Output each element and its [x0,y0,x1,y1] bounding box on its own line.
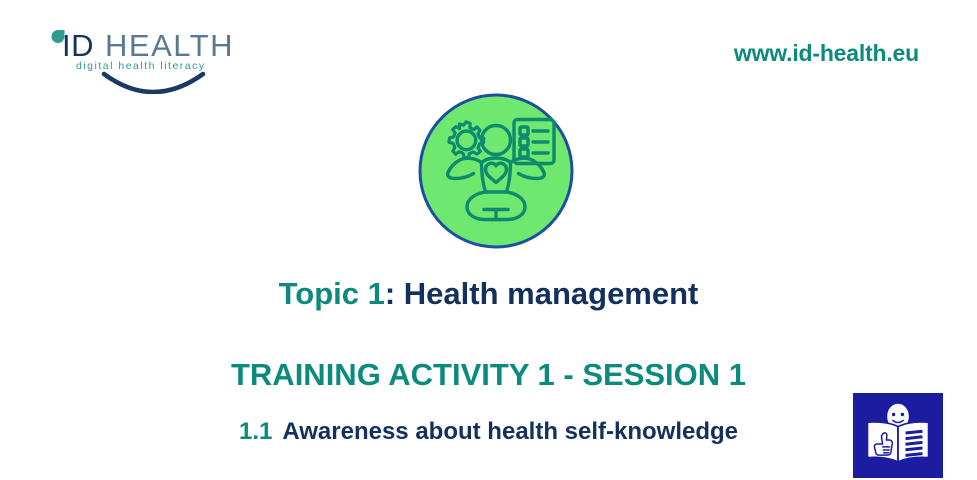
smile-curve-icon [104,74,203,92]
topic-title: Topic 1: Health management [0,276,977,312]
brand-tagline: digital health literacy [76,60,206,72]
topic-name: Health management [404,276,699,311]
brand-logo: ID HEALTH digital health literacy [48,24,278,94]
health-management-icon [417,92,575,250]
website-url[interactable]: www.id-health.eu [734,40,919,67]
subtopic-name: Awareness about health self-knowledge [282,418,738,445]
topic-number: Topic 1 [279,276,385,311]
brand-name-id: ID [62,28,94,63]
training-activity-title: TRAINING ACTIVITY 1 - SESSION 1 [0,357,977,393]
easy-to-read-logo [853,393,943,478]
subtopic-number: 1.1 [239,418,272,445]
brand-name-health: HEALTH [105,28,234,63]
slide-canvas: ID HEALTH digital health literacy www.id… [0,0,977,480]
topic-separator: : [385,276,395,311]
subtopic-title: 1.1Awareness about health self-knowledge [0,418,977,446]
